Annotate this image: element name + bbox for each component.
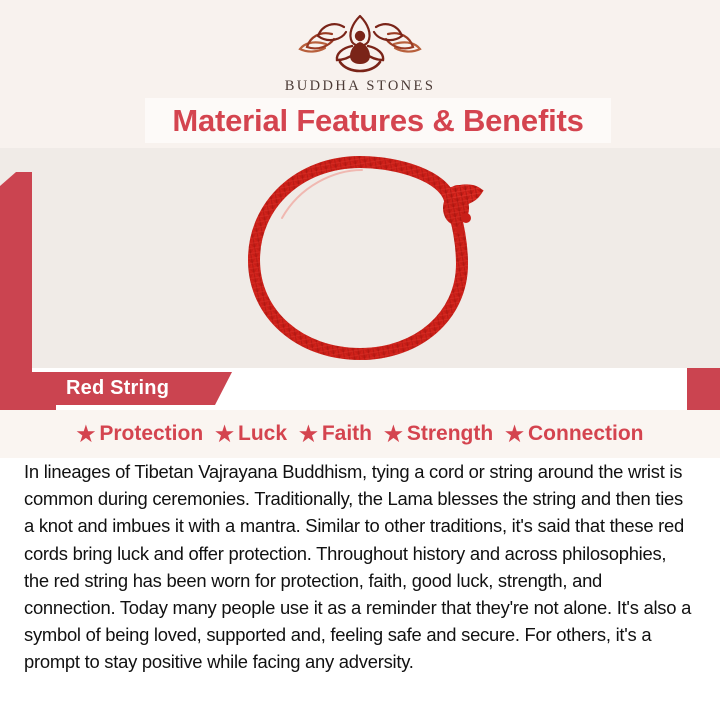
infographic-page: BUDDHA STONES Material Features & Benefi…: [0, 0, 720, 720]
star-icon: ★: [505, 424, 524, 445]
benefit-item-luck: ★ Luck: [209, 422, 293, 446]
product-name-label: Red String: [66, 377, 169, 400]
benefit-item-protection: ★ Protection: [71, 422, 210, 446]
benefit-item-connection: ★ Connection: [499, 422, 649, 446]
page-title: Material Features & Benefits: [172, 103, 583, 139]
product-name-tag: Red String: [0, 372, 232, 405]
star-icon: ★: [384, 424, 403, 445]
benefits-row: ★ Protection ★ Luck ★ Faith ★ Strength ★…: [0, 410, 720, 458]
star-icon: ★: [299, 424, 318, 445]
benefit-label: Strength: [407, 422, 493, 446]
page-title-band: Material Features & Benefits: [145, 98, 611, 143]
star-icon: ★: [77, 424, 96, 445]
description-section: In lineages of Tibetan Vajrayana Buddhis…: [0, 458, 720, 720]
star-icon: ★: [215, 424, 234, 445]
benefit-label: Protection: [99, 422, 203, 446]
benefit-label: Luck: [238, 422, 287, 446]
benefit-label: Faith: [322, 422, 372, 446]
description-text: In lineages of Tibetan Vajrayana Buddhis…: [24, 458, 693, 676]
brand-name: BUDDHA STONES: [0, 78, 720, 95]
benefit-item-faith: ★ Faith: [293, 422, 378, 446]
lotus-meditation-icon: [296, 14, 424, 76]
benefit-label: Connection: [528, 422, 644, 446]
red-string-bracelet-image: [222, 148, 498, 368]
brand-logo: BUDDHA STONES: [0, 14, 720, 95]
product-image-stage: [0, 148, 720, 368]
benefit-item-strength: ★ Strength: [378, 422, 499, 446]
